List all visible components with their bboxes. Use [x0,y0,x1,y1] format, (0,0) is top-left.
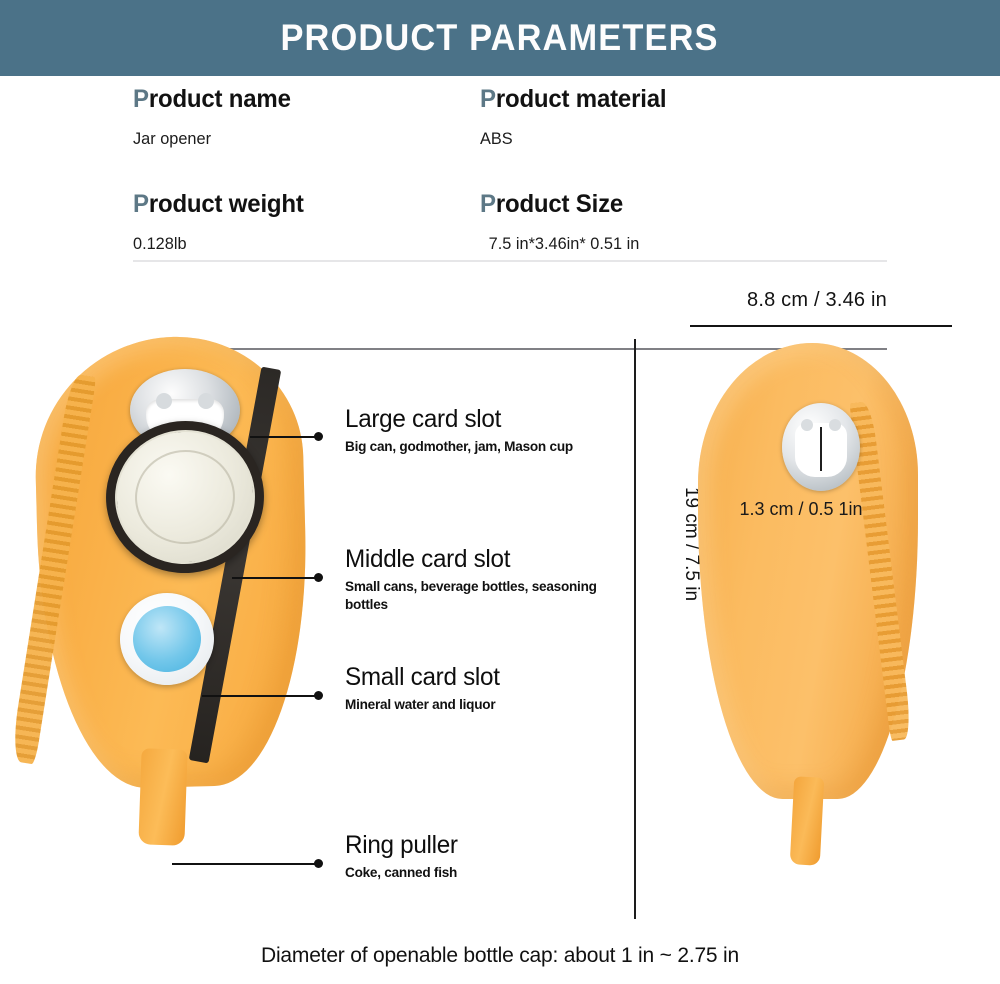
bottle-cap-inner [130,603,203,675]
callout-leader-line [250,436,316,438]
callout-small-card-slot: Small card slot Mineral water and liquor [345,663,635,713]
callout-middle-card-slot: Middle card slot Small cans, beverage bo… [345,545,635,613]
spec-cell-product-material: Product material ABS [440,84,1000,176]
callout-leader-dot [314,573,323,582]
callout-ring-puller: Ring puller Coke, canned fish [345,831,635,881]
callout-leader-line [202,695,316,697]
spec-label-initial: P [133,85,149,113]
callout-subtitle: Mineral water and liquor [345,695,626,713]
callout-subtitle: Big can, godmother, jam, Mason cup [345,437,626,455]
bottle-opener-icon-front [782,403,860,491]
spec-label-initial: P [133,190,149,218]
header-banner: PRODUCT PARAMETERS [0,0,1000,76]
callout-leader-dot [314,432,323,441]
width-dimension-label: 8.8 cm / 3.46 in [634,289,1000,312]
spec-value-product-material: ABS [480,128,979,150]
spec-cell-product-weight: Product weight 0.128lb [0,189,440,281]
spec-value-product-name: Jar opener [133,128,428,150]
callout-leader-dot [314,691,323,700]
callout-title: Middle card slot [345,545,626,574]
spec-cell-product-name: Product name Jar opener [0,84,440,176]
spec-label-text: roduct material [496,85,667,113]
spec-label-product-name: Product name [133,84,428,114]
spec-label-text: roduct Size [496,190,623,218]
spec-label-text: roduct name [149,85,291,113]
cap-dimension-label: 1.3 cm / 0.5 1in [706,499,896,520]
jar-opener-ring-puller-stem-front [790,776,825,865]
spec-cell-product-size: Product Size 7.5 in*3.46in* 0.51 in [440,189,1000,281]
spec-label-initial: P [480,85,496,113]
spec-label-product-material: Product material [480,84,979,114]
spec-value-product-size: 7.5 in*3.46in* 0.51 in [480,233,979,255]
table-divider-middle [133,260,887,262]
callout-large-card-slot: Large card slot Big can, godmother, jam,… [345,405,635,455]
jar-lid-inner [108,423,261,571]
spec-label-product-size: Product Size [480,189,979,219]
page-title: PRODUCT PARAMETERS [281,17,719,59]
callout-subtitle: Small cans, beverage bottles, seasoning … [345,577,626,613]
callout-subtitle: Coke, canned fish [345,863,626,881]
product-parameters-table: Product name Jar opener Product material… [0,76,1000,281]
spec-label-initial: P [480,190,496,218]
spec-value-product-weight: 0.128lb [133,233,428,255]
table-row: Product name Jar opener Product material… [0,84,1000,176]
footer-caption: Diameter of openable bottle cap: about 1… [0,944,1000,968]
callout-title: Small card slot [345,663,626,692]
callout-leader-line [232,577,316,579]
width-dimension-line [690,325,952,327]
jar-opener-ring-puller-stem [138,748,187,846]
left-product-panel: Large card slot Big can, godmother, jam,… [0,281,634,931]
right-dimension-panel: 8.8 cm / 3.46 in 19 cm / 7.5 in 1.3 cm /… [634,281,1000,931]
table-row: Product weight 0.128lb Product Size 7.5 … [0,189,1000,281]
jar-lid-rim [130,445,239,549]
callout-title: Ring puller [345,831,626,860]
product-illustration: Large card slot Big can, godmother, jam,… [0,281,1000,931]
callout-title: Large card slot [345,405,626,434]
spec-label-product-weight: Product weight [133,189,428,219]
callout-leader-line [172,863,316,865]
spec-label-text: roduct weight [149,190,304,218]
callout-leader-dot [314,859,323,868]
bottle-opener-center-line [820,427,822,471]
